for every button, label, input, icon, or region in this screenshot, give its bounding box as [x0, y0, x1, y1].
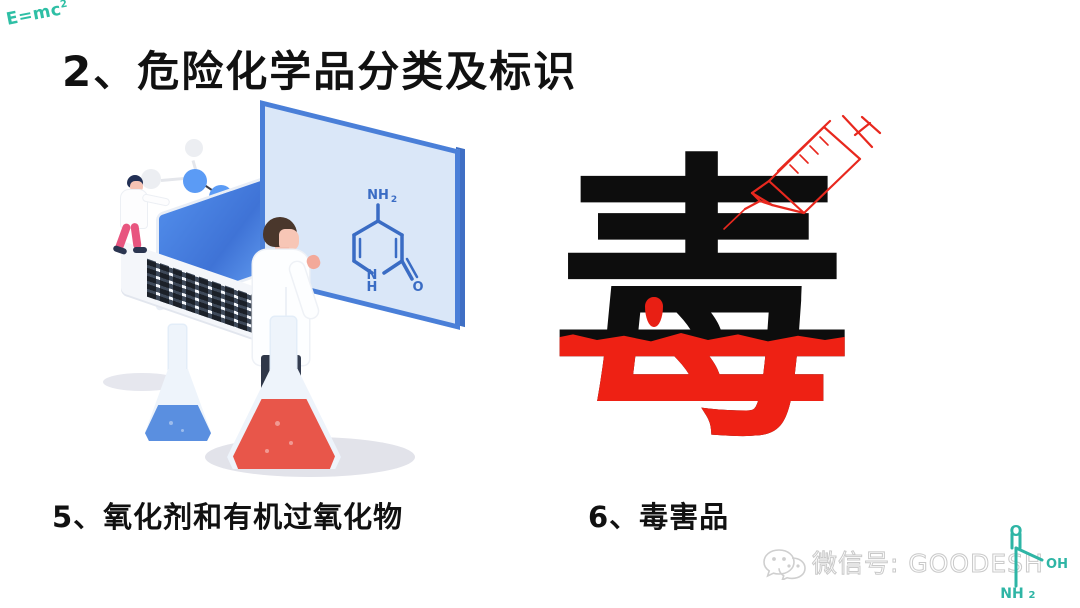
- slide-canvas: E=mc2 2、危险化学品分类及标识: [0, 0, 1080, 608]
- page-title: 2、危险化学品分类及标识: [62, 38, 577, 99]
- molecule-atom-ghost: [185, 139, 203, 157]
- lab-scene-illustration: NH 2 N H O: [95, 125, 455, 495]
- wechat-icon: [762, 546, 806, 580]
- decorative-formula-exponent: 2: [59, 0, 68, 11]
- amino-acid-icon: O OH NH 2: [972, 526, 1077, 598]
- flask-blue: [145, 325, 215, 445]
- amino-label-oxygen: O: [1010, 522, 1023, 540]
- flask-bubble: [181, 429, 184, 432]
- amino-label-amine-sub: 2: [1029, 590, 1036, 601]
- chem-label-amine-sub: 2: [391, 195, 397, 205]
- syringe-icon: [712, 105, 882, 235]
- chemical-structure-diagram: NH 2 N H O: [332, 187, 424, 297]
- flask-red-neck: [271, 317, 296, 377]
- poison-character-illustration: 毒 毒: [552, 105, 882, 495]
- chem-label-oxygen: O: [412, 280, 423, 295]
- flask-bubble: [169, 421, 173, 425]
- decorative-formula-text: E=mc: [5, 0, 63, 30]
- chem-label-h: H: [367, 280, 378, 295]
- molecule-atom: [183, 169, 207, 193]
- flask-red: [227, 317, 347, 467]
- small-figure-shoe: [133, 247, 147, 253]
- caption-oxidizers: 5、氧化剂和有机过氧化物: [52, 494, 403, 536]
- small-scientist-figure: [113, 175, 165, 255]
- decorative-formula: E=mc2: [5, 0, 71, 30]
- chem-label-amine: NH: [367, 188, 389, 203]
- amino-label-amine: NH: [1000, 586, 1023, 602]
- watermark: 微信号: GOODESH O OH NH 2: [762, 536, 1080, 598]
- small-figure-shoe: [112, 245, 127, 255]
- caption-toxic: 6、毒害品: [588, 494, 729, 536]
- flask-bubble: [289, 441, 293, 445]
- amino-label-hydroxyl: OH: [1046, 557, 1068, 572]
- flask-bubble: [275, 421, 280, 426]
- flask-red-liquid: [233, 399, 335, 469]
- flask-bubble: [265, 449, 269, 453]
